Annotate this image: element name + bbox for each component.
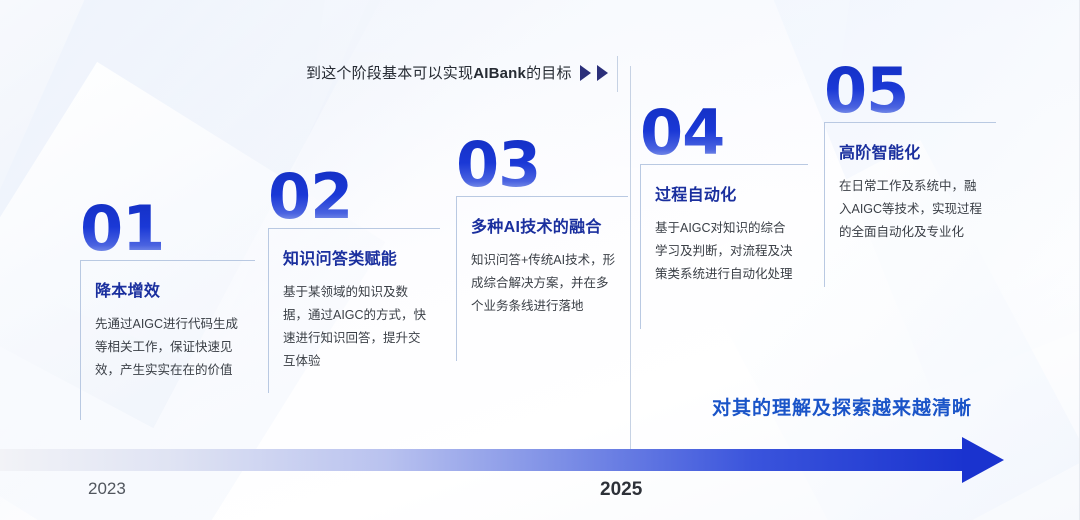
timeline-year-start: 2023 (88, 479, 126, 499)
step-description: 基于AIGC对知识的综合学习及判断，对流程及决策类系统进行自动化处理 (655, 217, 798, 286)
step-card: 降本增效 先通过AIGC进行代码生成等相关工作，保证快速见效，产生实实在在的价值 (80, 260, 255, 420)
step-description: 在日常工作及系统中，融入AIGC等技术，实现过程的全面自动化及专业化 (839, 175, 986, 244)
step-number: 03 (456, 136, 540, 194)
arrow-right-icon (962, 437, 1004, 483)
step-05[interactable]: 05 高阶智能化 在日常工作及系统中，融入AIGC等技术，实现过程的全面自动化及… (824, 62, 996, 287)
step-description: 基于某领域的知识及数据，通过AIGC的方式，快速进行知识回答，提升交互体验 (283, 281, 430, 374)
vertical-divider-annotation (617, 56, 618, 92)
step-number: 04 (640, 104, 724, 162)
step-title: 知识问答类赋能 (283, 245, 430, 269)
step-number: 02 (268, 168, 352, 226)
step-title: 降本增效 (95, 277, 245, 301)
step-card: 过程自动化 基于AIGC对知识的综合学习及判断，对流程及决策类系统进行自动化处理 (640, 164, 808, 329)
step-number: 01 (80, 200, 164, 258)
closing-headline: 对其的理解及探索越来越清晰 (712, 393, 972, 420)
vertical-divider-left (630, 66, 631, 449)
step-title: 高阶智能化 (839, 139, 986, 163)
annotation-highlight: AIBank (473, 65, 526, 82)
step-title: 过程自动化 (655, 181, 798, 205)
step-description: 知识问答+传统AI技术，形成综合解决方案，并在多个业务条线进行落地 (471, 249, 618, 318)
timeline-bar (0, 449, 966, 471)
step-04[interactable]: 04 过程自动化 基于AIGC对知识的综合学习及判断，对流程及决策类系统进行自动… (640, 104, 808, 329)
triangle-right-icon (597, 65, 608, 81)
annotation-text: 到这个阶段基本可以实现AIBank的目标 (306, 62, 572, 83)
step-card: 多种AI技术的融合 知识问答+传统AI技术，形成综合解决方案，并在多个业务条线进… (456, 196, 628, 361)
triangle-right-icon (580, 65, 591, 81)
infographic-canvas: 到这个阶段基本可以实现AIBank的目标 01 降本增效 先通过AIGC进行代码… (0, 0, 1080, 520)
annotation-text-after: 的目标 (526, 65, 572, 82)
step-number: 05 (824, 62, 908, 120)
step-02[interactable]: 02 知识问答类赋能 基于某领域的知识及数据，通过AIGC的方式，快速进行知识回… (268, 168, 440, 393)
step-03[interactable]: 03 多种AI技术的融合 知识问答+传统AI技术，形成综合解决方案，并在多个业务… (456, 136, 628, 361)
timeline-year-mid: 2025 (600, 479, 642, 501)
timeline: 2023 2025 (0, 443, 1080, 483)
step-description: 先通过AIGC进行代码生成等相关工作，保证快速见效，产生实实在在的价值 (95, 313, 245, 382)
step-title: 多种AI技术的融合 (471, 213, 618, 237)
step-card: 高阶智能化 在日常工作及系统中，融入AIGC等技术，实现过程的全面自动化及专业化 (824, 122, 996, 287)
step-card: 知识问答类赋能 基于某领域的知识及数据，通过AIGC的方式，快速进行知识回答，提… (268, 228, 440, 393)
step-01[interactable]: 01 降本增效 先通过AIGC进行代码生成等相关工作，保证快速见效，产生实实在在… (80, 200, 255, 420)
annotation-text-before: 到这个阶段基本可以实现 (306, 65, 473, 82)
annotation-callout: 到这个阶段基本可以实现AIBank的目标 (306, 62, 608, 83)
